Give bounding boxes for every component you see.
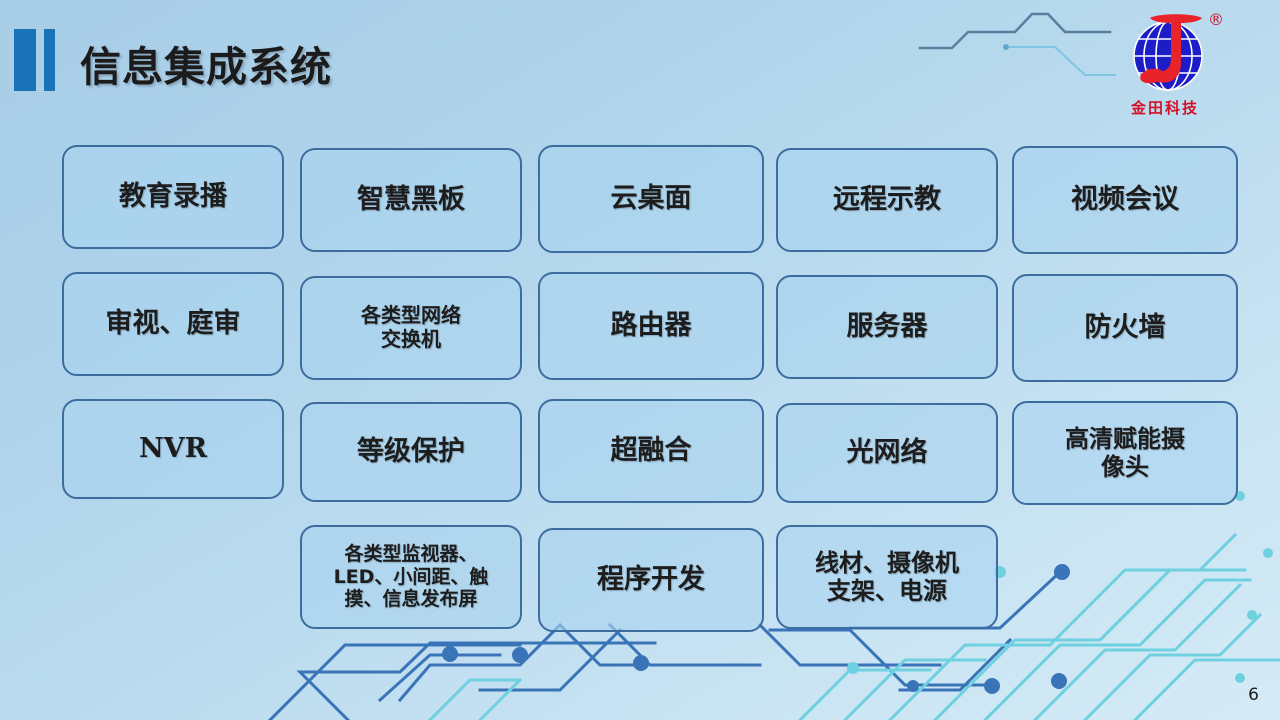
card-r1c1[interactable]: 教育录播 (62, 145, 284, 249)
card-r3c4[interactable]: 光网络 (776, 403, 998, 503)
card-label: 超融合 (605, 435, 698, 467)
card-r4c1[interactable]: 各类型监视器、 LED、小间距、触 摸、信息发布屏 (300, 525, 522, 629)
title-accent-bar-right (44, 29, 55, 91)
card-r3c3[interactable]: 超融合 (538, 399, 764, 503)
page-title: 信息集成系统 (80, 33, 332, 93)
card-label: 线材、摄像机 支架、电源 (809, 549, 965, 606)
card-label: 云桌面 (605, 183, 698, 215)
card-label: 各类型监视器、 LED、小间距、触 摸、信息发布屏 (328, 543, 495, 610)
card-label: 等级保护 (351, 436, 471, 468)
card-r2c2[interactable]: 各类型网络 交换机 (300, 276, 522, 380)
card-label: 远程示教 (827, 184, 947, 216)
card-label: 教育录播 (113, 181, 233, 213)
card-label: 各类型网络 交换机 (355, 304, 467, 351)
card-label: 防火墙 (1079, 312, 1172, 344)
page-number: 6 (1248, 685, 1259, 705)
company-logo: ® 金田科技 (1106, 6, 1226, 118)
card-label: 智慧黑板 (351, 184, 471, 216)
card-r1c2[interactable]: 智慧黑板 (300, 148, 522, 252)
slide-canvas: 信息集成系统 ® 金田科技 (0, 0, 1280, 720)
card-label: 高清赋能摄 像头 (1059, 425, 1191, 482)
logo-brand-text: 金田科技 (1106, 97, 1224, 118)
card-label: 程序开发 (591, 564, 711, 596)
card-r4c2[interactable]: 程序开发 (538, 528, 764, 632)
card-r1c4[interactable]: 远程示教 (776, 148, 998, 252)
slide-header: 信息集成系统 ® 金田科技 (0, 0, 1280, 128)
card-label: 服务器 (841, 311, 934, 343)
registered-trademark-icon: ® (1208, 10, 1224, 29)
card-label: 审视、庭审 (100, 308, 247, 340)
card-r1c5[interactable]: 视频会议 (1012, 146, 1238, 254)
card-label: 视频会议 (1065, 184, 1185, 216)
card-r2c1[interactable]: 审视、庭审 (62, 272, 284, 376)
card-r2c3[interactable]: 路由器 (538, 272, 764, 380)
card-r3c2[interactable]: 等级保护 (300, 402, 522, 502)
card-label: 路由器 (605, 310, 698, 342)
card-r3c1[interactable]: NVR (62, 399, 284, 499)
card-r4c3[interactable]: 线材、摄像机 支架、电源 (776, 525, 998, 629)
card-r2c5[interactable]: 防火墙 (1012, 274, 1238, 382)
card-label: 光网络 (841, 437, 934, 469)
title-accent-bar-left (14, 29, 36, 91)
card-r3c5[interactable]: 高清赋能摄 像头 (1012, 401, 1238, 505)
card-label: NVR (133, 433, 213, 465)
card-r1c3[interactable]: 云桌面 (538, 145, 764, 253)
card-r2c4[interactable]: 服务器 (776, 275, 998, 379)
